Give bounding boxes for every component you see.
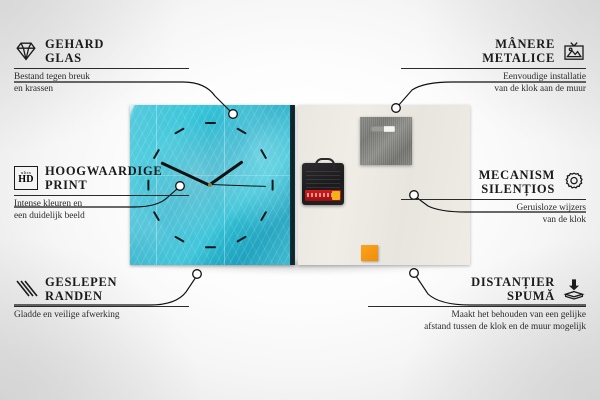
leader-dot-gehard-glas: [229, 110, 238, 119]
feature-title: MÂNERE METALICE: [482, 37, 555, 65]
title-underline: [401, 68, 586, 69]
feature-subtitle: Geruisloze wijzers van de klok: [401, 203, 586, 226]
spacer-arrow-icon: [562, 277, 586, 301]
feature-header: DISTANȚIER SPUMĂ: [368, 275, 586, 303]
feature-title: DISTANȚIER SPUMĂ: [471, 275, 555, 303]
leader-dot-manere-metalice: [392, 104, 401, 113]
infographic-canvas: GEHARD GLAS Bestand tegen breuk en krass…: [0, 0, 600, 400]
title-underline: [401, 199, 586, 200]
feature-header: GESLEPEN RANDEN: [14, 275, 189, 303]
title-underline: [14, 68, 189, 69]
feature-subtitle: Maakt het behouden van een gelijke afsta…: [368, 310, 586, 333]
feature-subtitle: Intense kleuren en een duidelijk beeld: [14, 199, 189, 222]
feature-title: GEHARD GLAS: [45, 37, 104, 65]
picture-hanger-icon: [562, 39, 586, 63]
feature-hoogwaardige-print[interactable]: ultra HD HOOGWAARDIGE PRINT Intense kleu…: [14, 164, 189, 222]
ultra-hd-icon: ultra HD: [14, 166, 38, 190]
gear-icon: [562, 170, 586, 194]
feature-title: MECANISM SILENȚIOS: [479, 168, 555, 196]
feature-header: ultra HD HOOGWAARDIGE PRINT: [14, 164, 189, 192]
beveled-edges-icon: [14, 277, 38, 301]
feature-title: GESLEPEN RANDEN: [45, 275, 117, 303]
diamond-icon: [14, 39, 38, 63]
feature-manere-metalice[interactable]: MÂNERE METALICE Eenvoudige installatie v…: [401, 37, 586, 95]
feature-subtitle: Eenvoudige installatie van de klok aan d…: [401, 72, 586, 95]
title-underline: [368, 306, 586, 307]
feature-gehard-glas[interactable]: GEHARD GLAS Bestand tegen breuk en krass…: [14, 37, 189, 95]
feature-header: MECANISM SILENȚIOS: [401, 168, 586, 196]
feature-subtitle: Gladde en veilige afwerking: [14, 310, 189, 322]
feature-distantier-spuma[interactable]: DISTANȚIER SPUMĂ Maakt het behouden van …: [368, 275, 586, 333]
feature-mecanism-silentios[interactable]: MECANISM SILENȚIOS Geruisloze wijzers va…: [401, 168, 586, 226]
title-underline: [14, 306, 189, 307]
feature-geslepen-randen[interactable]: GESLEPEN RANDEN Gladde en veilige afwerk…: [14, 275, 189, 322]
feature-header: GEHARD GLAS: [14, 37, 189, 65]
leader-dot-geslepen-randen: [193, 270, 202, 279]
feature-header: MÂNERE METALICE: [401, 37, 586, 65]
feature-title: HOOGWAARDIGE PRINT: [45, 164, 162, 192]
title-underline: [14, 195, 189, 196]
feature-subtitle: Bestand tegen breuk en krassen: [14, 72, 189, 95]
